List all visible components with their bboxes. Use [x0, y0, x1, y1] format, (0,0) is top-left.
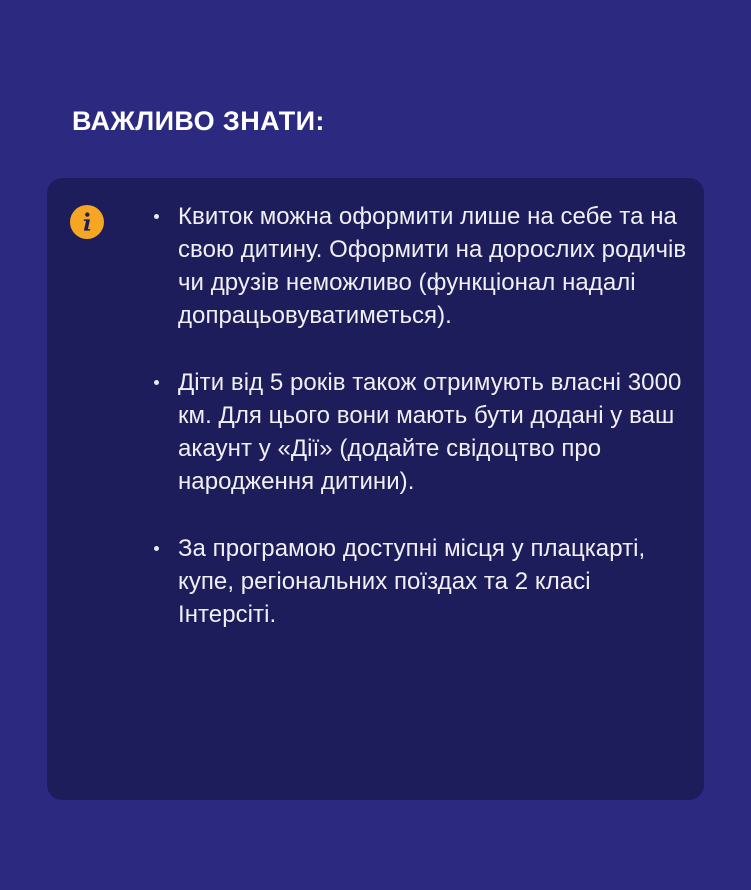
list-item-text: Діти від 5 років також отримують власні …: [178, 369, 681, 495]
bullet-list: Квиток можна оформити лише на себе та на…: [145, 200, 690, 631]
important-info-card: Квиток можна оформити лише на себе та на…: [47, 178, 704, 800]
page-title: ВАЖЛИВО ЗНАТИ:: [72, 105, 325, 137]
list-item: Діти від 5 років також отримують власні …: [145, 366, 690, 498]
bullet-dot-icon: [154, 380, 159, 385]
bullet-dot-icon: [154, 214, 159, 219]
list-item: Квиток можна оформити лише на себе та на…: [145, 200, 690, 332]
list-item-text: За програмою доступні місця у плацкарті,…: [178, 535, 645, 628]
list-item-text: Квиток можна оформити лише на себе та на…: [178, 203, 686, 329]
list-item: За програмою доступні місця у плацкарті,…: [145, 532, 690, 631]
bullet-dot-icon: [154, 546, 159, 551]
info-icon: [70, 205, 104, 239]
